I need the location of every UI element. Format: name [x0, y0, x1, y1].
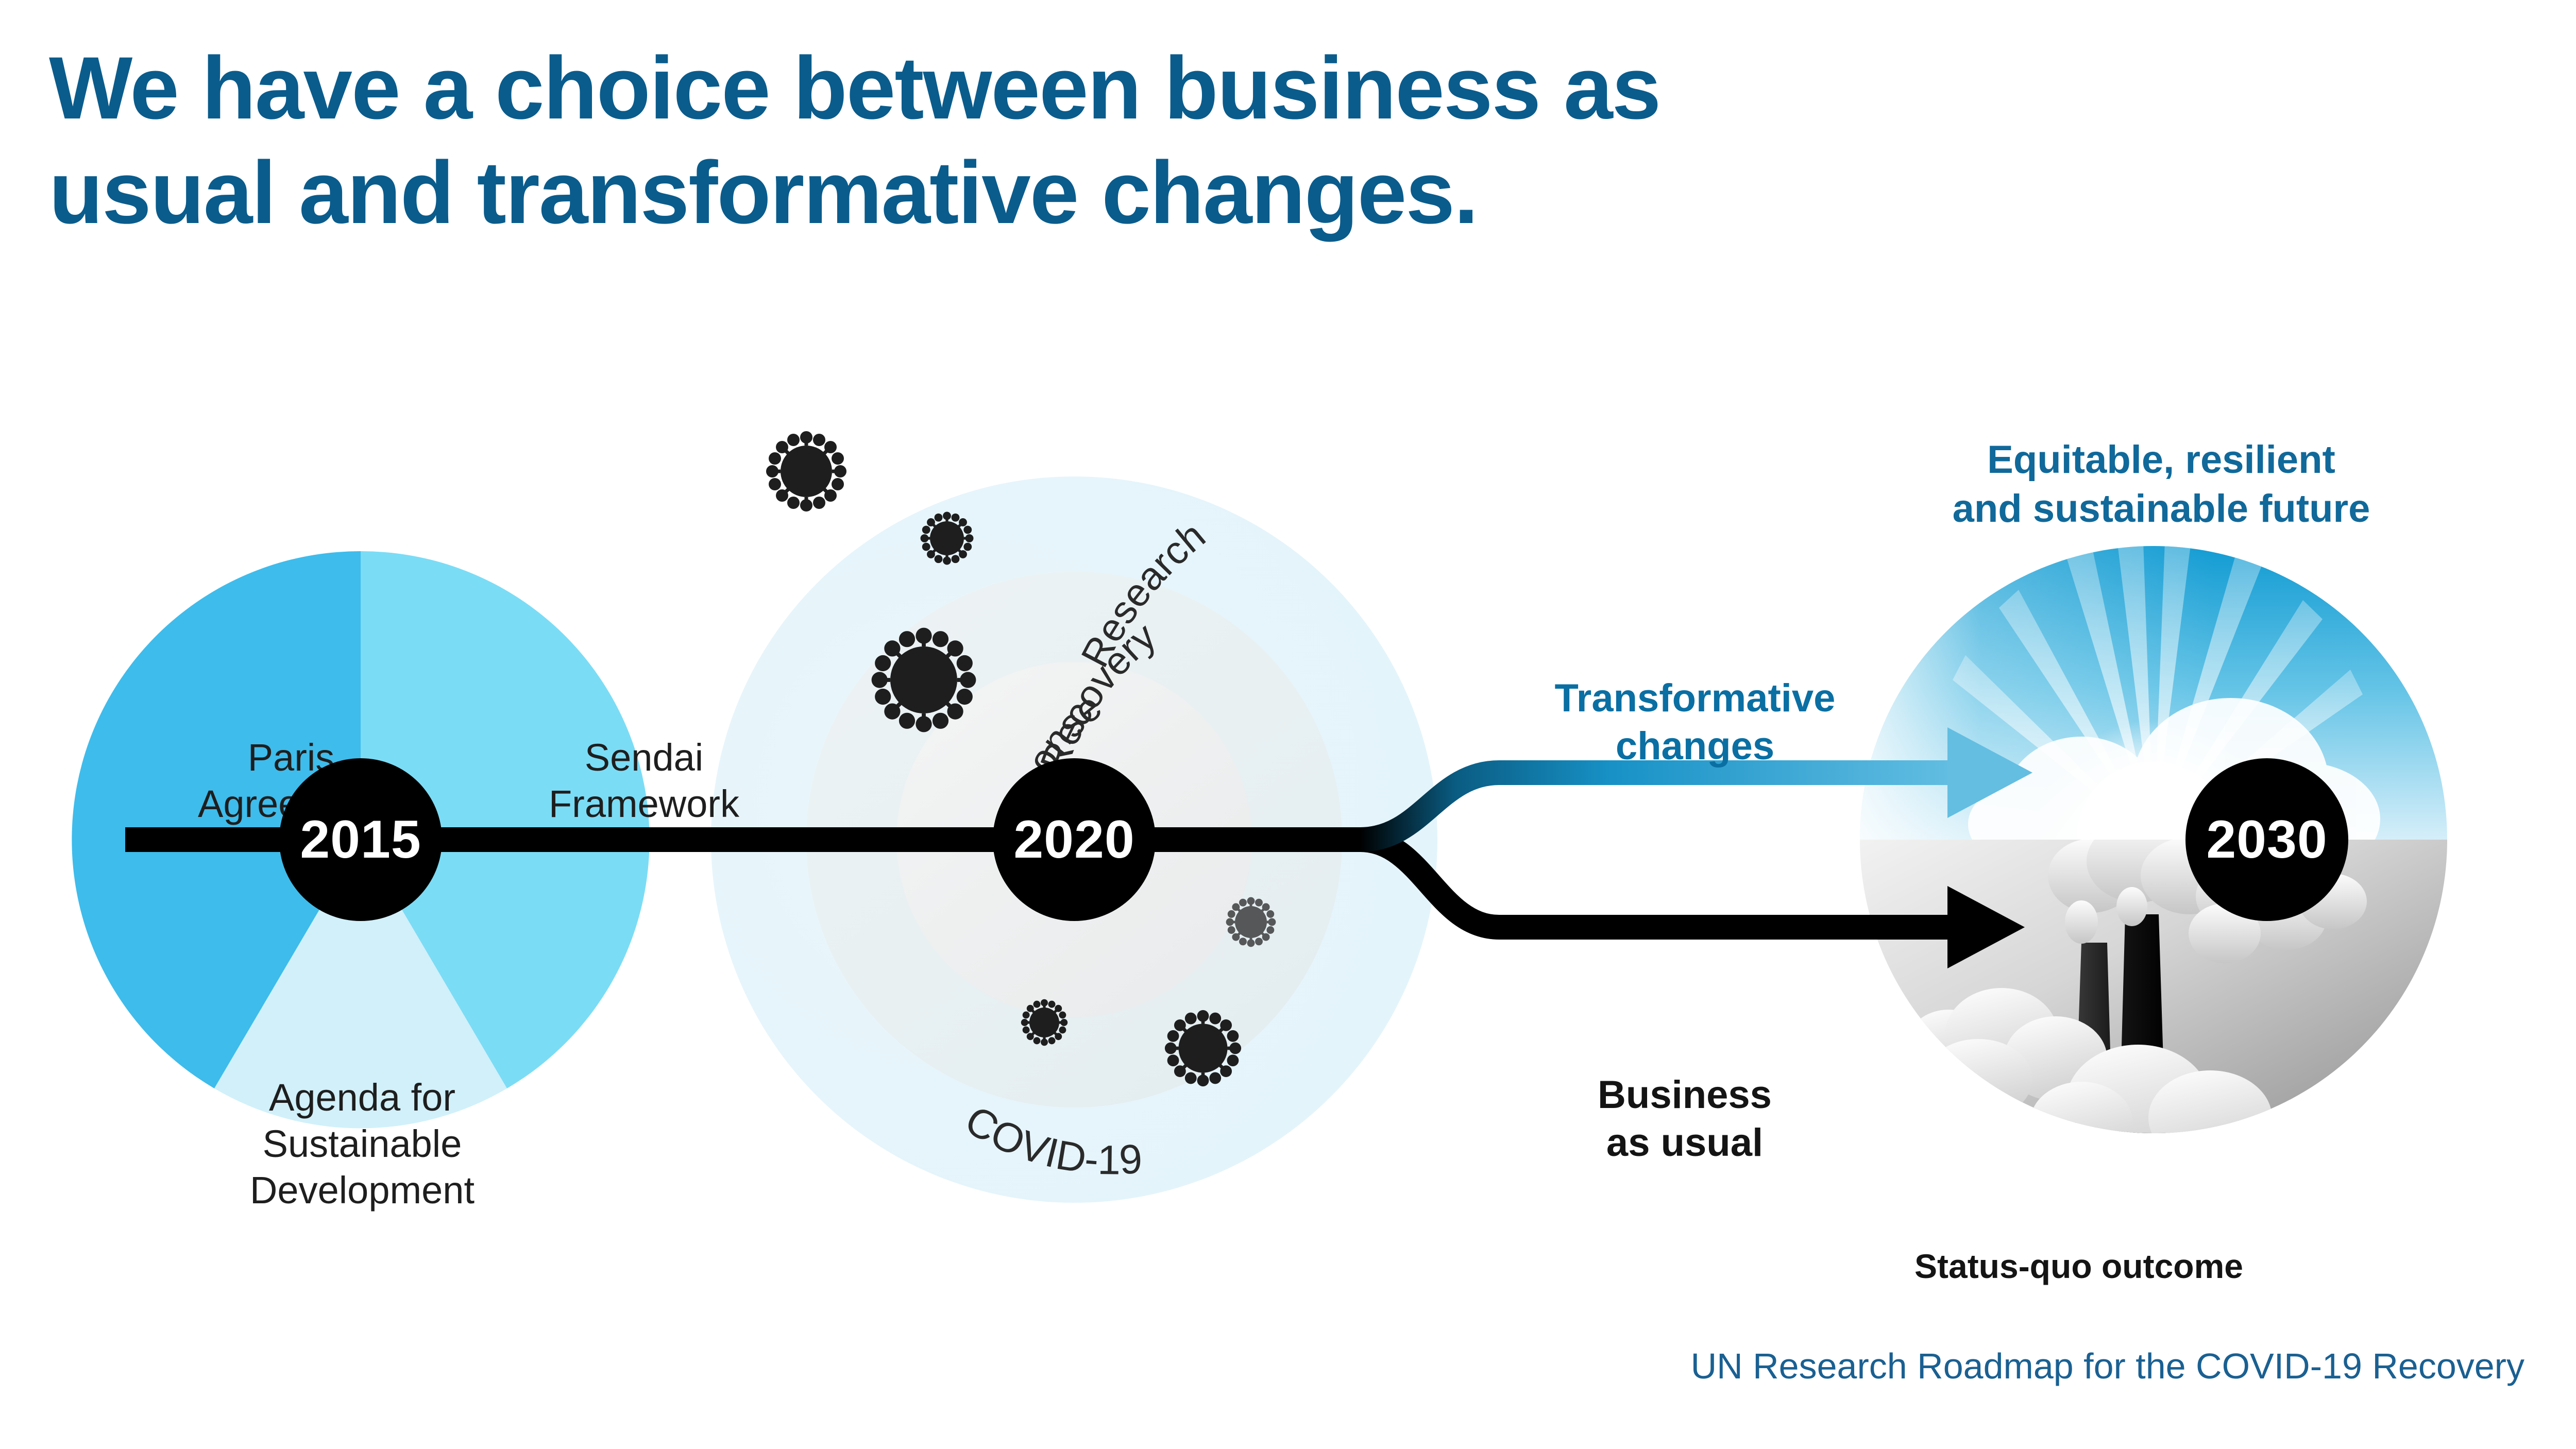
label-business-as-usual: Business as usual	[1525, 976, 1844, 1263]
label-transformative-changes: Transformative changes	[1510, 579, 1880, 866]
pie-label-sendai-framework: Sendai Framework	[520, 641, 768, 920]
label-status-quo-outcome: Status-quo outcome	[1821, 1247, 2336, 1286]
virus-icon	[872, 628, 976, 732]
timeline-node-2030[interactable]: 2030	[2185, 758, 2348, 921]
virus-icon	[1165, 1010, 1241, 1086]
timeline-node-2020[interactable]: 2020	[993, 758, 1156, 921]
virus-icon	[921, 512, 974, 565]
timeline-node-2030-label: 2030	[2206, 809, 2327, 871]
virus-icon	[766, 431, 846, 512]
future-2030-scene	[1855, 541, 2458, 1165]
footer-source: UN Research Roadmap for the COVID-19 Rec…	[1236, 1345, 2524, 1387]
virus-icon	[1021, 999, 1067, 1046]
virus-icon	[1226, 897, 1276, 947]
label-equitable-resilient-sustainable-future: Equitable, resilient and sustainable fut…	[1834, 337, 2488, 631]
infographic-canvas: We have a choice between business as usu…	[0, 0, 2576, 1449]
timeline-node-2020-label: 2020	[1013, 809, 1134, 871]
timeline-node-2015-label: 2015	[300, 809, 421, 871]
pie-label-agenda-sustainable-development: Agenda for Sustainable Development	[241, 981, 483, 1307]
timeline-node-2015[interactable]: 2015	[279, 758, 442, 921]
